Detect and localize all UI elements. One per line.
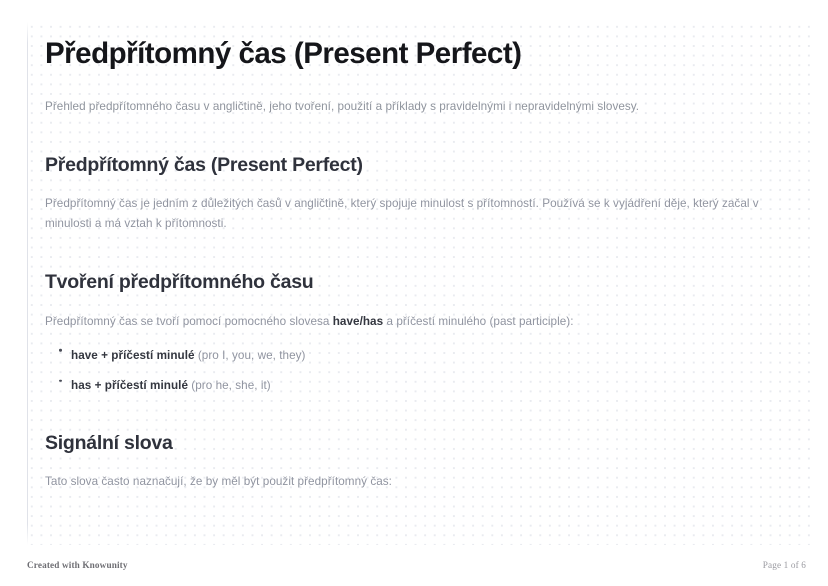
list-item-bold: have + příčestí minulé <box>71 349 195 362</box>
section-heading-tvoreni: Tvoření předpřítomného času <box>45 234 787 294</box>
bullet-dot-icon <box>59 379 62 382</box>
list-item: has + příčestí minulé (pro he, she, it) <box>45 365 787 396</box>
document-subtitle: Přehled předpřítomného času v angličtině… <box>45 72 787 116</box>
list-item: have + příčestí minulé (pro I, you, we, … <box>45 332 787 366</box>
bullet-dot-icon <box>59 349 62 352</box>
paragraph-text-tail: a příčestí minulého (past participle): <box>383 315 573 328</box>
document-page: Předpřítomný čas (Present Perfect) Přehl… <box>0 0 828 586</box>
list-item-bold: has + příčestí minulé <box>71 379 188 392</box>
section-heading-signalni-slova: Signální slova <box>45 396 787 455</box>
footer-credit: Created with Knowunity <box>27 560 128 570</box>
section-heading-present-perfect: Předpřítomný čas (Present Perfect) <box>45 116 787 177</box>
list-item-rest: (pro I, you, we, they) <box>195 349 306 362</box>
footer-pagination: Page 1 of 6 <box>763 560 806 570</box>
left-margin-rule <box>27 22 28 545</box>
paragraph-text-lead: Předpřítomný čas se tvoří pomocí pomocné… <box>45 315 333 328</box>
document-content: Předpřítomný čas (Present Perfect) Přehl… <box>45 0 787 493</box>
section-paragraph-present-perfect: Předpřítomný čas je jedním z důležitých … <box>45 177 787 234</box>
page-title: Předpřítomný čas (Present Perfect) <box>45 0 787 72</box>
formation-bullet-list: have + příčestí minulé (pro I, you, we, … <box>45 332 787 396</box>
paragraph-bold-have-has: have/has <box>333 315 383 328</box>
page-footer: Created with Knowunity Page 1 of 6 <box>27 557 806 573</box>
list-item-rest: (pro he, she, it) <box>188 379 271 392</box>
section-paragraph-tvoreni: Předpřítomný čas se tvoří pomocí pomocné… <box>45 295 787 332</box>
section-paragraph-signalni-slova: Tato slova často naznačují, že by měl bý… <box>45 455 787 492</box>
